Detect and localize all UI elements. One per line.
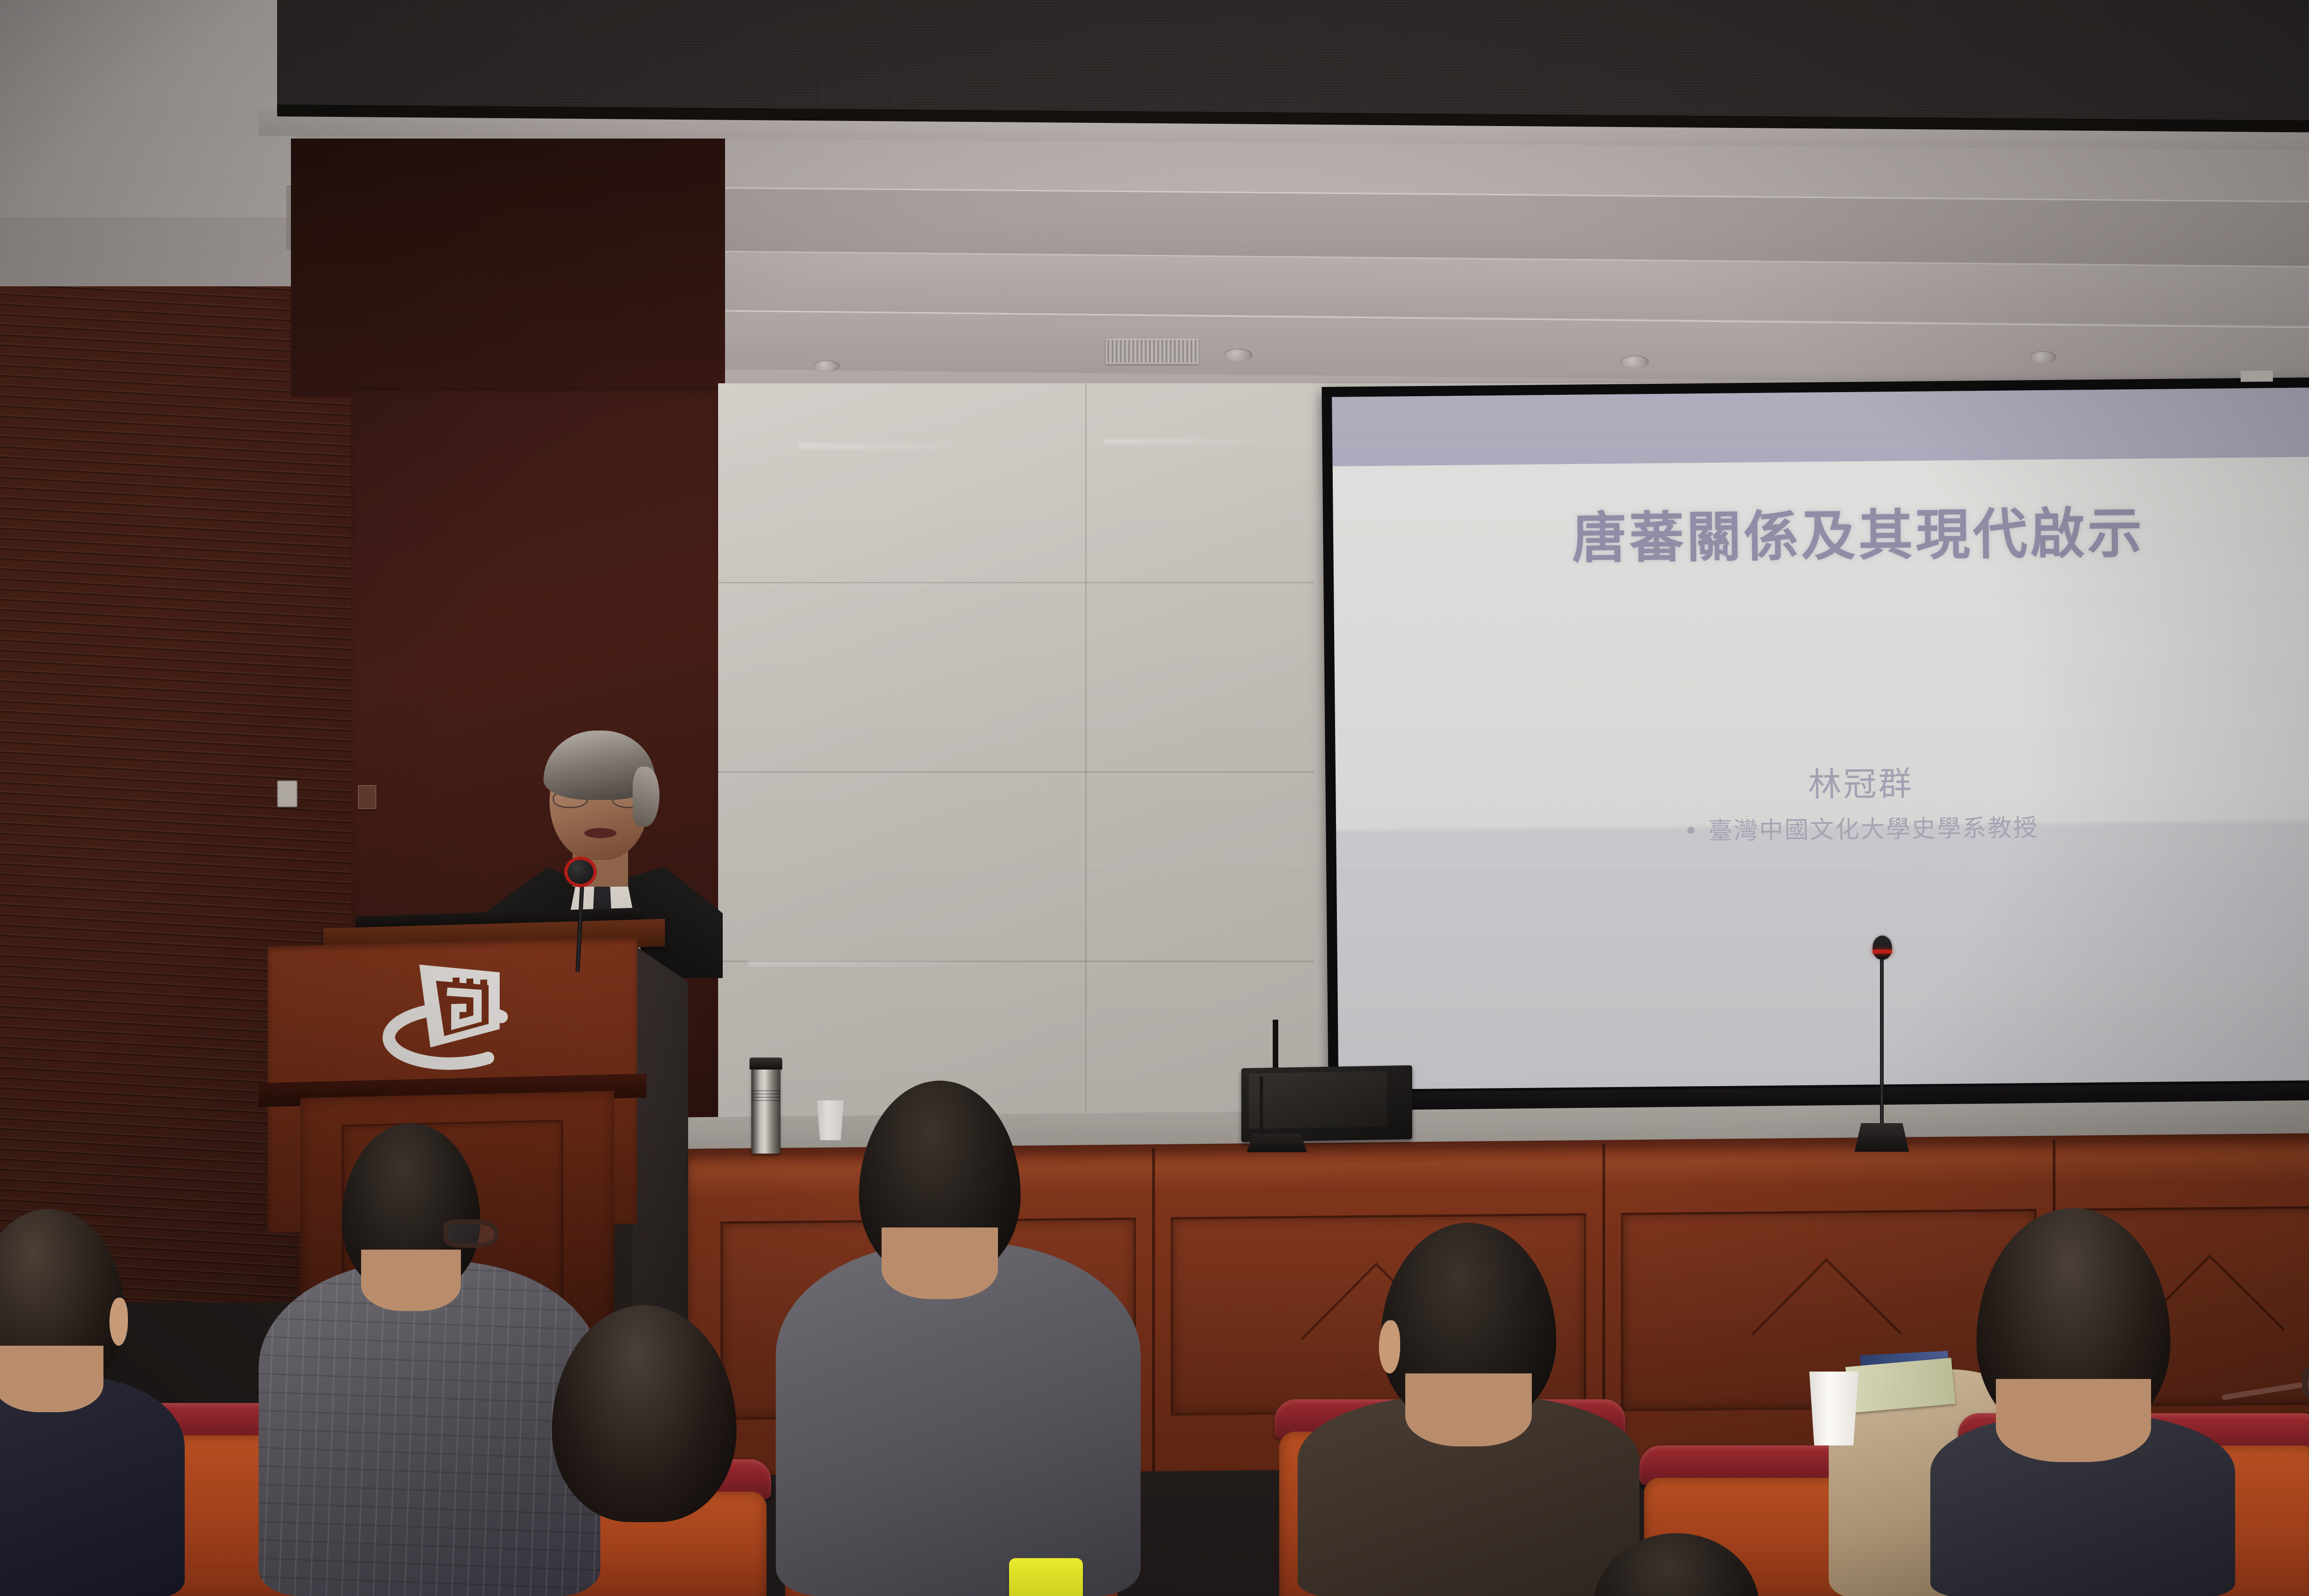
monitor-base	[1247, 1134, 1307, 1152]
handout-document[interactable]	[1845, 1358, 1955, 1413]
slide-title: 唐蕃關係及其現代啟示	[1333, 486, 2309, 575]
recessed-ceiling-light-icon	[814, 360, 840, 372]
wall-outlet-plate[interactable]	[358, 785, 376, 809]
yellow-bottle-cap[interactable]	[1009, 1558, 1083, 1596]
microphone-base	[1855, 1123, 1909, 1152]
ear	[109, 1298, 128, 1346]
ceiling-air-vent-icon	[1106, 339, 1198, 364]
paper-cup[interactable]	[815, 1100, 846, 1140]
microphone-led-ring	[1873, 949, 1892, 954]
hair	[1593, 1533, 1759, 1596]
ceiling-acoustic-panel	[277, 0, 2309, 133]
wall-highlight	[799, 443, 974, 449]
thermos-cap[interactable]	[750, 1058, 782, 1070]
audience-head	[859, 1081, 1021, 1279]
wall-switch-plate[interactable]	[277, 780, 297, 807]
nape	[0, 1346, 103, 1412]
recessed-ceiling-light-icon	[1621, 356, 1649, 368]
stage-monitor-screen	[1249, 1071, 1387, 1129]
slide-affiliation: • 臺灣中國文化大學史學系教授	[1336, 805, 2309, 850]
screen-surface: 唐蕃關係及其現代啟示 林冠群 • 臺灣中國文化大學史學系教授	[1332, 387, 2309, 1090]
podium-side-panel	[633, 944, 688, 1360]
gooseneck-microphone-stem	[1880, 947, 1884, 1127]
audience-head	[1381, 1223, 1556, 1426]
projection-screen: 唐蕃關係及其現代啟示 林冠群 • 臺灣中國文化大學史學系教授	[1322, 377, 2309, 1126]
audience-head	[1977, 1208, 2170, 1439]
podium-microphone-icon	[568, 860, 593, 884]
monitor-support-arm	[1273, 1020, 1278, 1070]
slide-author: 林冠群	[1336, 752, 2309, 810]
gooseneck-microphone-icon	[1873, 936, 1892, 960]
audience-head	[0, 1209, 125, 1394]
dark-wood-upper-panel	[291, 139, 725, 397]
monitor-gooseneck	[1260, 1076, 1263, 1141]
ear	[1379, 1320, 1400, 1373]
lecture-hall-photo: 唐蕃關係及其現代啟示 林冠群 • 臺灣中國文化大學史學系教授	[0, 0, 2309, 1596]
hair	[552, 1305, 737, 1522]
wall-highlight	[1104, 439, 1298, 444]
white-wall-panels-left	[718, 383, 1323, 1168]
mouth	[584, 828, 617, 838]
thermos-grip-rings	[751, 1089, 780, 1101]
ceiling-left-wedge	[0, 0, 296, 217]
wall-highlight	[748, 961, 1007, 966]
recessed-ceiling-light-icon	[1224, 349, 1252, 362]
audience-head	[552, 1305, 737, 1522]
institution-logo-icon	[369, 943, 536, 1085]
nape	[361, 1250, 461, 1311]
nape	[882, 1227, 998, 1299]
audience-torso	[259, 1261, 600, 1596]
hair-side	[633, 767, 659, 827]
eyeglasses-icon	[443, 1219, 499, 1248]
audience-head	[1593, 1533, 1759, 1596]
nape	[1996, 1379, 2151, 1462]
paper-cup[interactable]	[1807, 1372, 1861, 1445]
screen-mount-bracket	[2241, 370, 2273, 382]
audience-head	[342, 1123, 480, 1294]
recessed-ceiling-light-icon	[2030, 351, 2056, 363]
thermos-flask[interactable]	[751, 1063, 780, 1154]
slide-header-band	[1332, 387, 2309, 466]
nape	[1405, 1373, 1532, 1446]
